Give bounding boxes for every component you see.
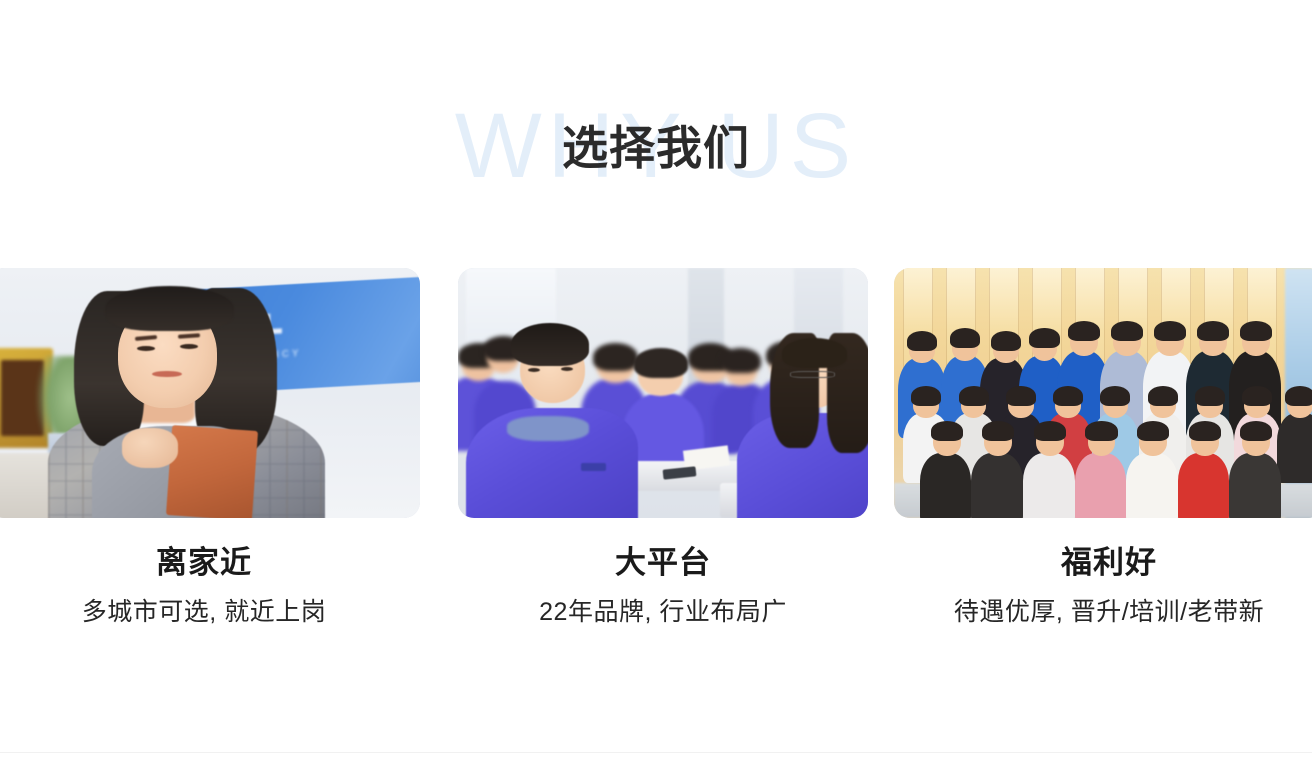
why-us-section: WHY US 选择我们 会计 ACCOUNTANCY <box>0 0 1312 757</box>
section-heading: WHY US 选择我们 <box>0 96 1312 206</box>
feature-card[interactable]: 福利好 待遇优厚, 晋升/培训/老带新 <box>894 268 1312 628</box>
feature-image-group <box>894 268 1312 518</box>
feature-card[interactable]: 大平台 22年品牌, 行业布局广 <box>458 268 868 628</box>
feature-image-office: 会计 ACCOUNTANCY <box>0 268 420 518</box>
feature-card-title: 大平台 <box>458 544 868 582</box>
feature-card[interactable]: 会计 ACCOUNTANCY 离家 <box>0 268 420 628</box>
feature-card-subtitle: 多城市可选, 就近上岗 <box>0 596 420 628</box>
feature-card-title: 离家近 <box>0 544 420 582</box>
feature-card-title: 福利好 <box>894 544 1312 582</box>
section-title: 选择我们 <box>0 120 1312 176</box>
feature-image-classroom <box>458 268 868 518</box>
feature-card-subtitle: 22年品牌, 行业布局广 <box>458 596 868 628</box>
feature-card-list: 会计 ACCOUNTANCY 离家 <box>0 268 1312 648</box>
feature-card-subtitle: 待遇优厚, 晋升/培训/老带新 <box>894 596 1312 628</box>
section-divider <box>0 752 1312 753</box>
